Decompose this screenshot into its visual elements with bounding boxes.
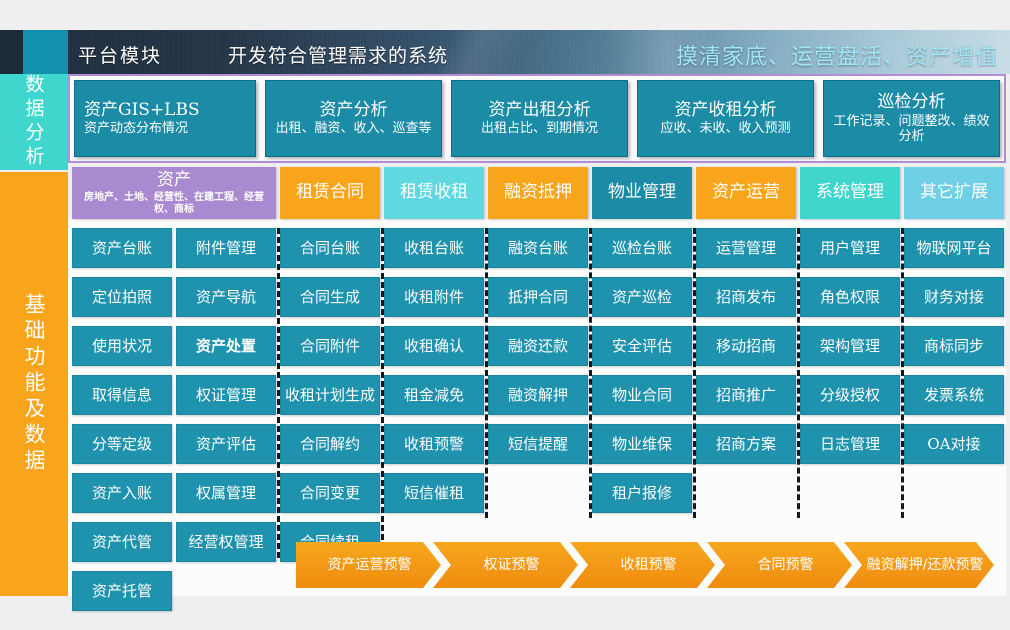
module-tile[interactable]: OA对接 — [904, 424, 1004, 464]
header-teal-block — [23, 30, 68, 74]
analysis-card-title: 巡检分析 — [878, 93, 946, 113]
module-header-title: 系统管理 — [816, 183, 884, 203]
module-tile[interactable]: 财务对接 — [904, 277, 1004, 317]
header-left-strip — [0, 30, 23, 74]
module-tile[interactable]: 合同解约 — [280, 424, 380, 464]
module-header-title: 租赁合同 — [296, 183, 364, 203]
module-tile[interactable]: 用户管理 — [800, 228, 900, 268]
module-header-subtitle: 房地产、土地、经营性、在建工程、经营权、商标 — [72, 192, 276, 215]
group-separator — [901, 228, 904, 518]
group-separator — [381, 228, 384, 558]
module-header[interactable]: 物业管理 — [592, 167, 692, 219]
module-header-title: 其它扩展 — [920, 183, 988, 203]
alert-step[interactable]: 权证预警 — [433, 542, 578, 588]
module-header[interactable]: 系统管理 — [800, 167, 900, 219]
group-separator — [797, 228, 800, 518]
rail-data-analysis: 数据分析 — [0, 74, 68, 170]
module-tile[interactable]: 权证管理 — [176, 375, 276, 415]
module-header-row: 资产房地产、土地、经营性、在建工程、经营权、商标租赁合同租赁收租融资抵押物业管理… — [68, 167, 1006, 219]
module-tile[interactable]: 发票系统 — [904, 375, 1004, 415]
alert-step[interactable]: 收租预警 — [570, 542, 715, 588]
analysis-card-subtitle: 出租占比、到期情况 — [481, 121, 598, 136]
module-column-finance-mortgage: 融资台账抵押合同融资还款融资解押短信提醒 — [488, 228, 588, 473]
module-tile[interactable]: 招商方案 — [696, 424, 796, 464]
group-separator — [277, 228, 280, 558]
module-tile[interactable]: 商标同步 — [904, 326, 1004, 366]
module-header[interactable]: 其它扩展 — [904, 167, 1004, 219]
module-tile[interactable]: 资产巡检 — [592, 277, 692, 317]
module-tile[interactable]: 使用状况 — [72, 326, 172, 366]
analysis-card[interactable]: 资产GIS+LBS资产动态分布情况 — [74, 80, 256, 157]
module-tile[interactable]: 物业维保 — [592, 424, 692, 464]
module-tile[interactable]: 资产代管 — [72, 522, 172, 562]
module-header[interactable]: 租赁收租 — [384, 167, 484, 219]
module-tile[interactable]: 收租计划生成 — [280, 375, 380, 415]
module-header-title: 资产 — [157, 171, 191, 191]
module-column-lease-rent: 收租台账收租附件收租确认租金减免收租预警短信催租 — [384, 228, 484, 522]
module-tile[interactable]: 权属管理 — [176, 473, 276, 513]
module-tile[interactable]: 安全评估 — [592, 326, 692, 366]
module-tile[interactable]: 定位拍照 — [72, 277, 172, 317]
alert-step[interactable]: 融资解押/还款预警 — [844, 542, 994, 588]
module-tile[interactable]: 日志管理 — [800, 424, 900, 464]
module-header-title: 融资抵押 — [504, 183, 572, 203]
module-tile[interactable]: 招商推广 — [696, 375, 796, 415]
module-tile[interactable]: 取得信息 — [72, 375, 172, 415]
analysis-card-title: 资产收租分析 — [675, 101, 777, 121]
module-column-property-manage: 巡检台账资产巡检安全评估物业合同物业维保租户报修 — [592, 228, 692, 522]
module-tile[interactable]: 分等定级 — [72, 424, 172, 464]
analysis-card-subtitle: 出租、融资、收入、巡查等 — [275, 121, 431, 136]
module-tile[interactable]: 资产评估 — [176, 424, 276, 464]
analysis-card-title: 资产出租分析 — [489, 101, 591, 121]
module-tile[interactable]: 物联网平台 — [904, 228, 1004, 268]
rail-base-function: 基础功能及数据 — [0, 172, 68, 596]
module-tile[interactable]: 运营管理 — [696, 228, 796, 268]
group-separator — [693, 228, 696, 518]
analysis-card[interactable]: 资产收租分析应收、未收、收入预测 — [637, 80, 814, 157]
module-column-asset-manage: 附件管理资产导航资产处置权证管理资产评估权属管理经营权管理 — [176, 228, 276, 571]
module-tile[interactable]: 融资解押 — [488, 375, 588, 415]
module-tile[interactable]: 角色权限 — [800, 277, 900, 317]
module-tile[interactable]: 巡检台账 — [592, 228, 692, 268]
analysis-section: 资产GIS+LBS资产动态分布情况资产分析出租、融资、收入、巡查等资产出租分析出… — [68, 74, 1006, 163]
module-tile[interactable]: 短信催租 — [384, 473, 484, 513]
page-title: 平台模块 — [78, 41, 162, 68]
slide-canvas: 平台模块 开发符合管理需求的系统 摸清家底、运营盘活、资产增值 数据分析 基础功… — [0, 0, 1010, 630]
module-column-system-manage: 用户管理角色权限架构管理分级授权日志管理 — [800, 228, 900, 473]
module-tile[interactable]: 资产入账 — [72, 473, 172, 513]
module-tile[interactable]: 架构管理 — [800, 326, 900, 366]
analysis-card[interactable]: 巡检分析工作记录、问题整改、绩效分析 — [823, 80, 1000, 157]
module-column-asset-operation: 运营管理招商发布移动招商招商推广招商方案 — [696, 228, 796, 473]
analysis-card-title: 资产GIS+LBS — [84, 101, 200, 121]
analysis-card-subtitle: 应收、未收、收入预测 — [660, 121, 790, 136]
module-tile[interactable]: 分级授权 — [800, 375, 900, 415]
analysis-card-title: 资产分析 — [320, 101, 388, 121]
analysis-card-row: 资产GIS+LBS资产动态分布情况资产分析出租、融资、收入、巡查等资产出租分析出… — [74, 80, 1000, 157]
module-header[interactable]: 资产运营 — [696, 167, 796, 219]
module-tile[interactable]: 合同变更 — [280, 473, 380, 513]
module-header-title: 租赁收租 — [400, 183, 468, 203]
module-header-title: 物业管理 — [608, 183, 676, 203]
module-header[interactable]: 租赁合同 — [280, 167, 380, 219]
module-column-lease-contract: 合同台账合同生成合同附件收租计划生成合同解约合同变更合同续租 — [280, 228, 380, 571]
analysis-card[interactable]: 资产分析出租、融资、收入、巡查等 — [265, 80, 442, 157]
analysis-card-subtitle: 资产动态分布情况 — [84, 121, 188, 136]
module-header-title: 资产运营 — [712, 183, 780, 203]
module-header[interactable]: 资产房地产、土地、经营性、在建工程、经营权、商标 — [72, 167, 276, 219]
module-tile[interactable]: 收租台账 — [384, 228, 484, 268]
module-tile[interactable]: 租金减免 — [384, 375, 484, 415]
group-separator — [589, 228, 592, 518]
module-tile[interactable]: 物业合同 — [592, 375, 692, 415]
module-tile[interactable]: 收租附件 — [384, 277, 484, 317]
module-tile[interactable]: 融资还款 — [488, 326, 588, 366]
module-header[interactable]: 融资抵押 — [488, 167, 588, 219]
module-tile[interactable]: 抵押合同 — [488, 277, 588, 317]
module-column-asset-ledger: 资产台账定位拍照使用状况取得信息分等定级资产入账资产代管资产托管 — [72, 228, 172, 620]
module-tile[interactable]: 合同生成 — [280, 277, 380, 317]
page-slogan: 摸清家底、运营盘活、资产增值 — [676, 39, 998, 71]
module-tile[interactable]: 合同附件 — [280, 326, 380, 366]
module-tile[interactable]: 招商发布 — [696, 277, 796, 317]
module-tile[interactable]: 附件管理 — [176, 228, 276, 268]
module-tile[interactable]: 资产托管 — [72, 571, 172, 611]
module-tile[interactable]: 移动招商 — [696, 326, 796, 366]
module-tile[interactable]: 融资台账 — [488, 228, 588, 268]
module-tile[interactable]: 合同台账 — [280, 228, 380, 268]
analysis-card-subtitle: 工作记录、问题整改、绩效分析 — [828, 114, 995, 144]
module-tile[interactable]: 资产处置 — [176, 326, 276, 366]
page-subtitle: 开发符合管理需求的系统 — [228, 41, 448, 68]
alert-step[interactable]: 合同预警 — [707, 542, 852, 588]
module-tile[interactable]: 短信提醒 — [488, 424, 588, 464]
alert-step[interactable]: 资产运营预警 — [296, 542, 441, 588]
alert-flow: 资产运营预警权证预警收租预警合同预警融资解押/还款预警 — [296, 542, 986, 588]
module-tile[interactable]: 经营权管理 — [176, 522, 276, 562]
module-tile[interactable]: 资产导航 — [176, 277, 276, 317]
module-tile[interactable]: 收租确认 — [384, 326, 484, 366]
module-tile[interactable]: 租户报修 — [592, 473, 692, 513]
analysis-card[interactable]: 资产出租分析出租占比、到期情况 — [451, 80, 628, 157]
group-separator — [485, 228, 488, 518]
module-column-other-extension: 物联网平台财务对接商标同步发票系统OA对接 — [904, 228, 1004, 473]
module-tile[interactable]: 收租预警 — [384, 424, 484, 464]
module-tile[interactable]: 资产台账 — [72, 228, 172, 268]
